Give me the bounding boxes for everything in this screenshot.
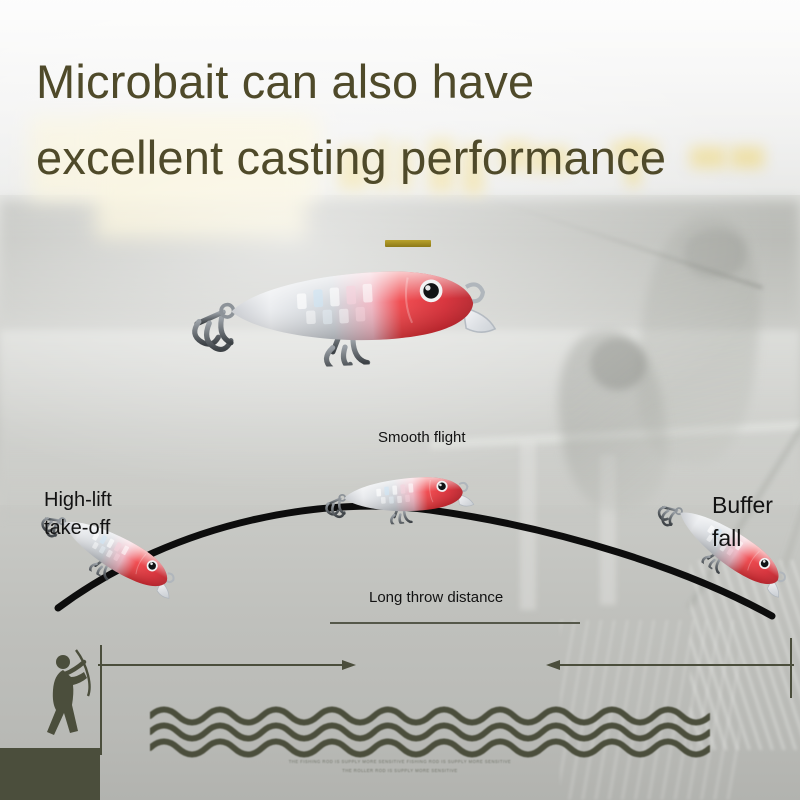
callout-long-throw: Long throw distance: [369, 589, 503, 606]
fishing-lure-midflight: [319, 441, 478, 551]
fine-print-line-2: THE ROLLER ROD IS SUPPLY MORE SENSITIVE: [0, 767, 800, 776]
diagram-top-rule: [330, 622, 580, 624]
callout-buffer-fall-line-2: fall: [712, 522, 773, 555]
callout-buffer-fall-line-1: Buffer: [712, 489, 773, 522]
water-waves-icon: [150, 690, 710, 760]
callout-buffer-fall: Buffer fall: [712, 489, 773, 554]
callout-take-off-line-1: High-lift: [44, 487, 112, 515]
callout-take-off: High-lift take-off: [44, 487, 112, 542]
measure-arrow-left: [96, 654, 358, 676]
fine-print-line-1: THE FISHING ROD IS SUPPLY MORE SENSITIVE…: [0, 758, 800, 767]
callout-smooth-flight: Smooth flight: [378, 429, 466, 446]
fishing-lure-icon: [183, 244, 499, 374]
fishing-lure-icon: [319, 441, 478, 551]
callout-take-off-line-2: take-off: [44, 515, 112, 543]
fine-print: THE FISHING ROD IS SUPPLY MORE SENSITIVE…: [0, 758, 800, 776]
page-title: Microbait can also have excellent castin…: [36, 44, 796, 196]
fishing-lure-hero: [183, 244, 499, 374]
measure-arrow-right: [544, 654, 796, 676]
promo-banner: Microbait can also have excellent castin…: [0, 0, 800, 800]
gold-divider: [385, 240, 431, 247]
headline-line-2: excellent casting performance: [36, 120, 796, 196]
headline-line-1: Microbait can also have: [36, 55, 534, 108]
